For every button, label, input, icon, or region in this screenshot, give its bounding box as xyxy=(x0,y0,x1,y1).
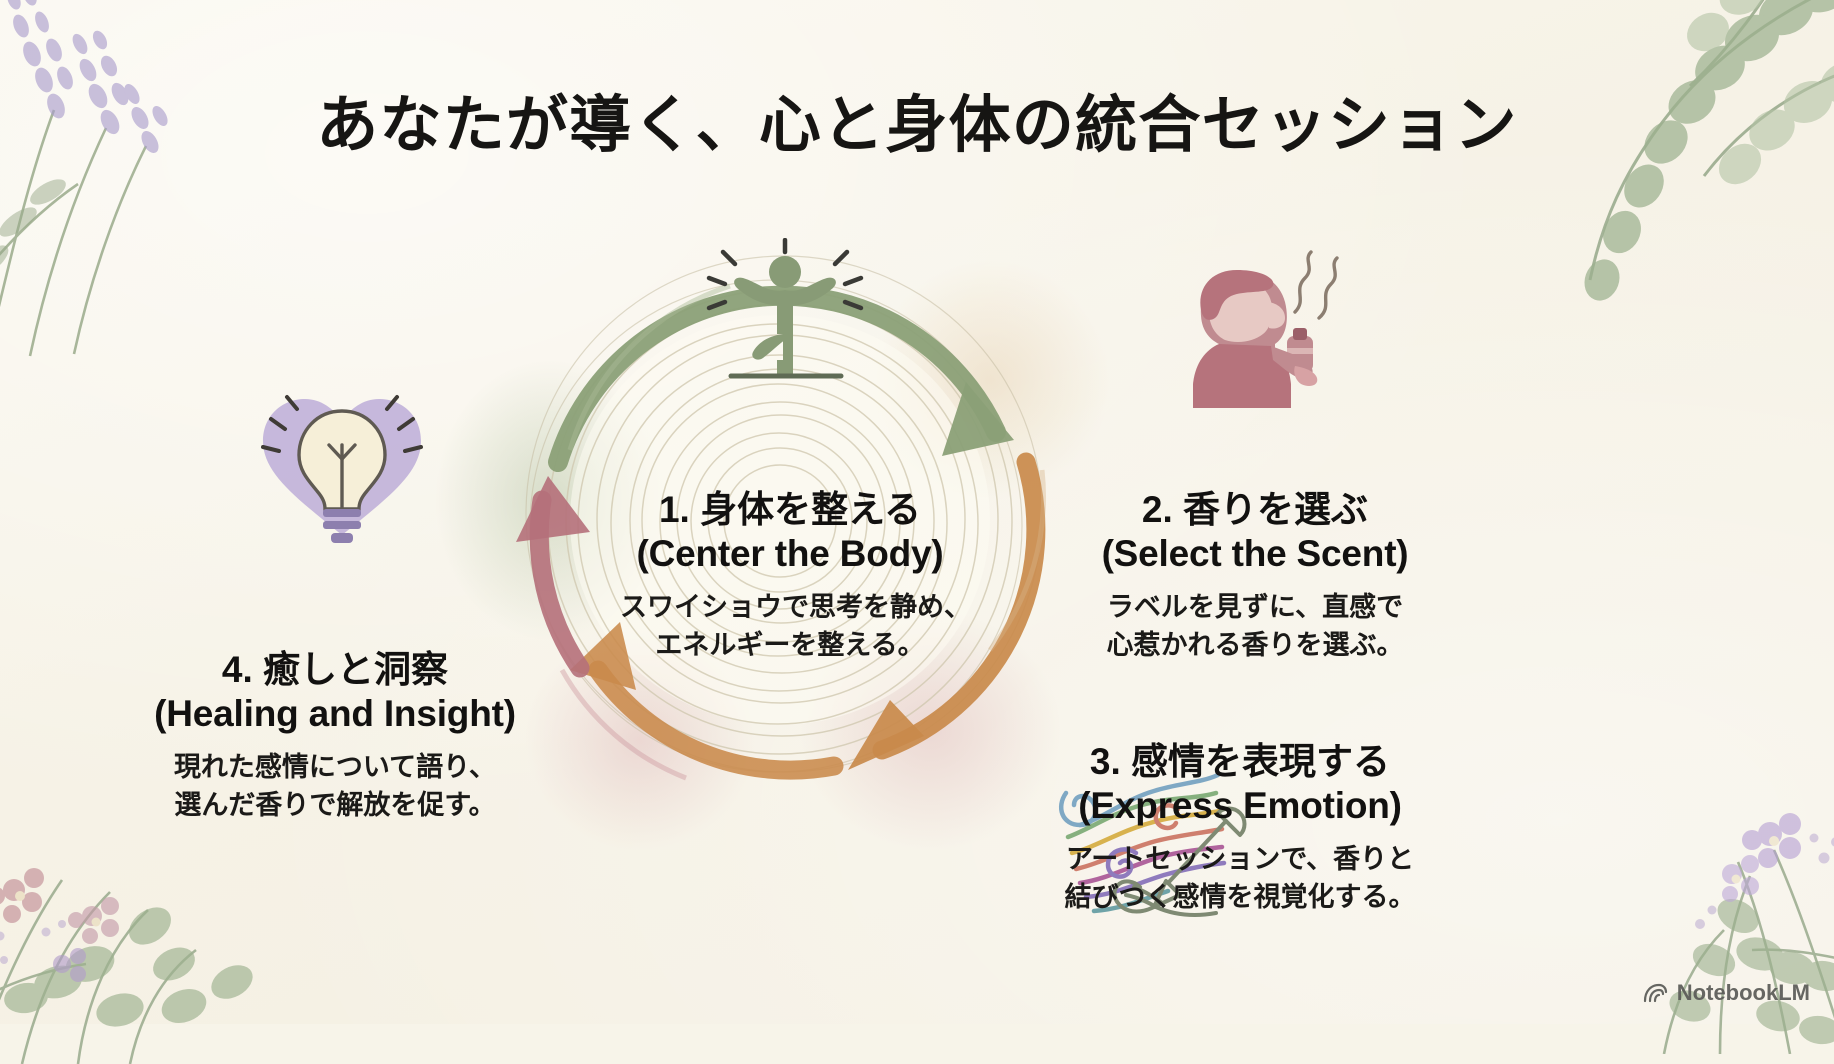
notebooklm-label: NotebookLM xyxy=(1677,980,1810,1006)
step-2-desc-line-1: ラベルを見ずに、直感で xyxy=(1090,589,1420,626)
step-3-heading-ja: 3. 感情を表現する xyxy=(1045,740,1435,784)
step-4-desc-line-2: 選んだ香りで解放を促す。 xyxy=(140,787,530,824)
heart-lightbulb-icon xyxy=(255,385,430,550)
step-block-3: 3. 感情を表現する (Express Emotion) アートセッションで、香… xyxy=(1045,740,1435,916)
step-2-heading-ja: 2. 香りを選ぶ xyxy=(1090,488,1420,532)
notebooklm-spiral-icon xyxy=(1642,982,1668,1004)
step-3-desc-line-2: 結びつく感情を視覚化する。 xyxy=(1045,879,1435,916)
slide-title: あなたが導く、心と身体の統合セッション xyxy=(0,74,1834,164)
step-1-heading-en: (Center the Body) xyxy=(620,532,960,576)
person-smelling-bottle-icon xyxy=(1175,248,1365,413)
step-1-description: スワイショウで思考を静め、 エネルギーを整える。 xyxy=(620,589,960,664)
step-1-desc-line-2: エネルギーを整える。 xyxy=(620,627,960,664)
step-4-heading-ja: 4. 癒しと洞察 xyxy=(140,648,530,692)
step-1-heading-ja: 1. 身体を整える xyxy=(620,488,960,532)
step-block-4: 4. 癒しと洞察 (Healing and Insight) 現れた感情について… xyxy=(140,648,530,824)
standing-yoga-person-icon xyxy=(695,238,875,398)
slide-canvas: あなたが導く、心と身体の統合セッション xyxy=(0,0,1834,1024)
step-3-heading-en: (Express Emotion) xyxy=(1045,784,1435,828)
step-4-heading: 4. 癒しと洞察 (Healing and Insight) xyxy=(140,648,530,735)
step-2-heading: 2. 香りを選ぶ (Select the Scent) xyxy=(1090,488,1420,575)
step-1-heading: 1. 身体を整える (Center the Body) xyxy=(620,488,960,575)
step-3-description: アートセッションで、香りと 結びつく感情を視覚化する。 xyxy=(1045,841,1435,916)
step-3-heading: 3. 感情を表現する (Express Emotion) xyxy=(1045,740,1435,827)
notebooklm-watermark: NotebookLM xyxy=(1642,980,1810,1006)
step-4-heading-en: (Healing and Insight) xyxy=(140,692,530,736)
step-block-2: 2. 香りを選ぶ (Select the Scent) ラベルを見ずに、直感で … xyxy=(1090,488,1420,664)
step-block-1: 1. 身体を整える (Center the Body) スワイショウで思考を静め… xyxy=(620,488,960,664)
step-2-desc-line-2: 心惹かれる香りを選ぶ。 xyxy=(1090,627,1420,664)
step-3-desc-line-1: アートセッションで、香りと xyxy=(1045,841,1435,878)
lavender-sprigs-decoration xyxy=(0,0,300,360)
step-4-desc-line-1: 現れた感情について語り、 xyxy=(140,749,530,786)
eucalyptus-branch-decoration xyxy=(1494,0,1834,330)
step-2-heading-en: (Select the Scent) xyxy=(1090,532,1420,576)
step-2-description: ラベルを見ずに、直感で 心惹かれる香りを選ぶ。 xyxy=(1090,589,1420,664)
step-4-description: 現れた感情について語り、 選んだ香りで解放を促す。 xyxy=(140,749,530,824)
step-1-desc-line-1: スワイショウで思考を静め、 xyxy=(620,589,960,626)
